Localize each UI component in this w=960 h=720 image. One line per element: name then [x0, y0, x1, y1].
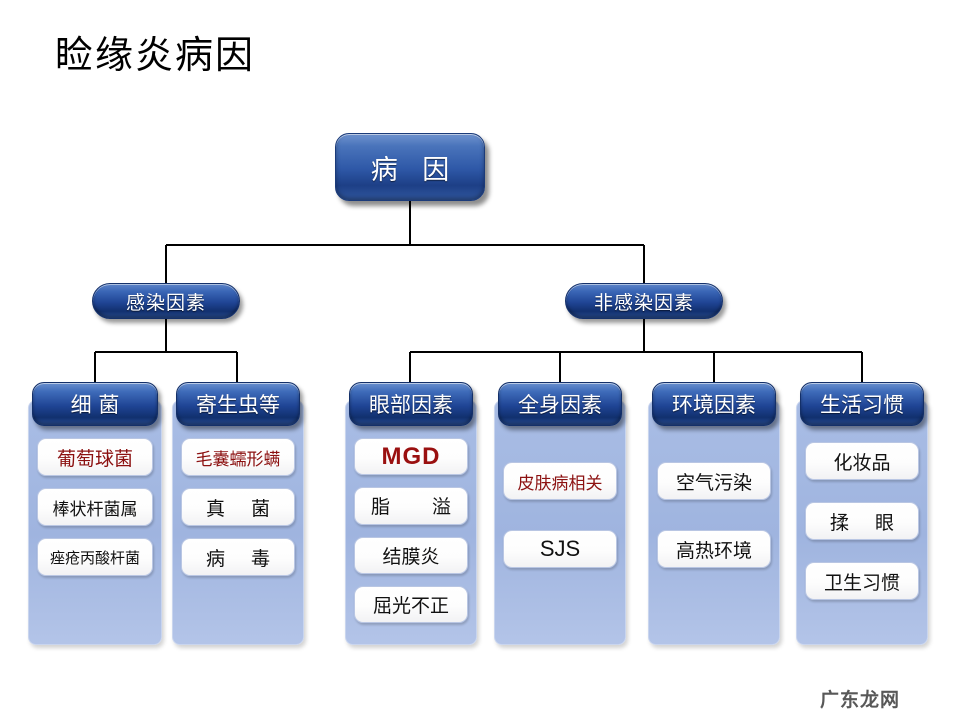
list-item[interactable]: 葡萄球菌 [37, 438, 153, 476]
column-living-habits: 生活习惯 化妆品 揉 眼 卫生习惯 [796, 382, 928, 645]
column-header-parasites[interactable]: 寄生虫等 [176, 382, 300, 426]
node-noninfectious-factors[interactable]: 非感染因素 [565, 283, 723, 319]
list-item[interactable]: 高热环境 [657, 530, 771, 568]
column-items: 空气污染 高热环境 [657, 462, 771, 635]
list-item[interactable]: 皮肤病相关 [503, 462, 617, 500]
column-header-systemic-factors[interactable]: 全身因素 [498, 382, 622, 426]
column-bacteria: 细 菌 葡萄球菌 棒状杆菌属 痤疮丙酸杆菌 [28, 382, 162, 645]
column-systemic-factors: 全身因素 皮肤病相关 SJS [494, 382, 626, 645]
column-environment-factors: 环境因素 空气污染 高热环境 [648, 382, 780, 645]
slide-canvas: 睑缘炎病因 病 因 感染因素 非感染因素 细 菌 [0, 0, 960, 720]
column-parasites: 寄生虫等 毛囊蠕形螨 真 菌 病 毒 [172, 382, 304, 645]
list-item[interactable]: 揉 眼 [805, 502, 919, 540]
column-header-environment-factors[interactable]: 环境因素 [652, 382, 776, 426]
column-items: 皮肤病相关 SJS [503, 462, 617, 635]
list-item[interactable]: 真 菌 [181, 488, 295, 526]
column-header-bacteria[interactable]: 细 菌 [32, 382, 158, 426]
list-item[interactable]: 卫生习惯 [805, 562, 919, 600]
list-item[interactable]: 脂 溢 [354, 487, 468, 524]
column-items: MGD 脂 溢 结膜炎 屈光不正 [354, 438, 468, 635]
watermark: 广东龙网 [820, 685, 900, 712]
list-item[interactable]: 化妆品 [805, 442, 919, 480]
column-header-living-habits[interactable]: 生活习惯 [800, 382, 924, 426]
list-item[interactable]: 病 毒 [181, 538, 295, 576]
column-ocular-factors: 眼部因素 MGD 脂 溢 结膜炎 屈光不正 [345, 382, 477, 645]
list-item[interactable]: MGD [354, 438, 468, 475]
column-header-ocular-factors[interactable]: 眼部因素 [349, 382, 473, 426]
root-node-cause[interactable]: 病 因 [335, 133, 485, 201]
list-item[interactable]: 屈光不正 [354, 586, 468, 623]
list-item[interactable]: 棒状杆菌属 [37, 488, 153, 526]
list-item[interactable]: 毛囊蠕形螨 [181, 438, 295, 476]
column-items: 化妆品 揉 眼 卫生习惯 [805, 442, 919, 635]
list-item[interactable]: 结膜炎 [354, 537, 468, 574]
column-items: 毛囊蠕形螨 真 菌 病 毒 [181, 438, 295, 635]
column-items: 葡萄球菌 棒状杆菌属 痤疮丙酸杆菌 [37, 438, 153, 635]
list-item[interactable]: 空气污染 [657, 462, 771, 500]
list-item[interactable]: 痤疮丙酸杆菌 [37, 538, 153, 576]
node-infectious-factors[interactable]: 感染因素 [92, 283, 240, 319]
list-item[interactable]: SJS [503, 530, 617, 568]
